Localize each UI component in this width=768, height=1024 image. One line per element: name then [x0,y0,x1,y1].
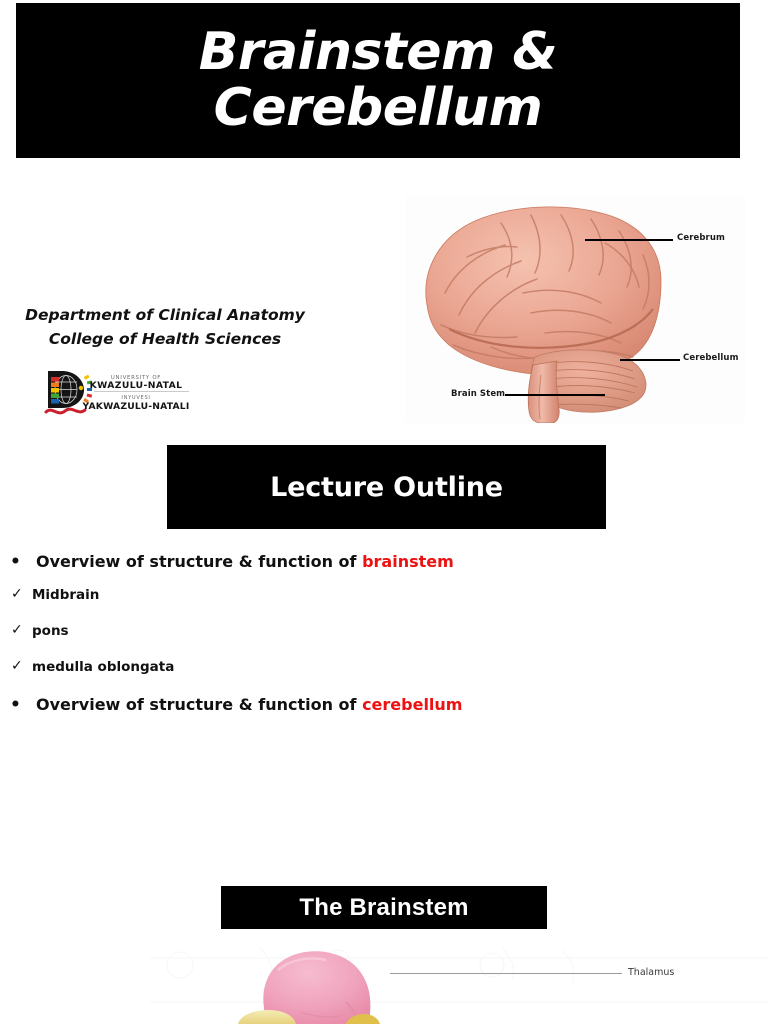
outline-item-brainstem-overview: • Overview of structure & function of br… [0,552,768,571]
brain-stem-leader-line [505,394,605,396]
department-block: Department of Clinical Anatomy College o… [0,303,330,351]
cerebellum-leader-line [620,359,680,361]
outline-item-text: medulla oblongata [32,659,174,675]
checkmark-icon: ✓ [11,587,32,601]
slide-title-line-1: Brainstem & [199,26,557,79]
bullet-dot-icon: • [10,554,36,571]
outline-item-medulla-oblongata: ✓ medulla oblongata [0,659,768,675]
cerebrum-label: Cerebrum [677,233,725,243]
department-line-1: Department of Clinical Anatomy [0,303,330,327]
lecture-outline-title: Lecture Outline [270,472,503,503]
checkmark-icon: ✓ [11,659,32,673]
outline-item-text: Midbrain [32,587,99,603]
slide-title-line-2: Cerebellum [214,82,543,135]
brain-anatomy-figure: Cerebrum Cerebellum Brain Stem [405,197,745,423]
cerebellum-label: Cerebellum [683,353,739,363]
outline-item-pons: ✓ pons [0,623,768,639]
brain-stem-label: Brain Stem [451,389,505,399]
ukzn-logo: UNIVERSITY OF KWAZULU-NATAL INYUVESI YAK… [40,367,192,417]
outline-item-cerebellum-overview: • Overview of structure & function of ce… [0,695,768,714]
thalamus-leader-line [390,973,622,974]
thalamus-figure: Thalamus [150,940,768,1024]
outline-item-accent: cerebellum [362,695,462,714]
thalamus-label: Thalamus [628,967,674,978]
slide-title-banner: Brainstem & Cerebellum [16,3,740,158]
logo-yakwazulu-natali: YAKWAZULU-NATALI [82,401,190,412]
outline-item-text: Overview of structure & function of brai… [36,552,454,571]
lecture-outline-banner: Lecture Outline [167,445,606,529]
outline-item-text: Overview of structure & function of cere… [36,695,462,714]
thalamus-illustration [150,940,768,1024]
the-brainstem-title: The Brainstem [299,894,468,922]
outline-item-accent: brainstem [362,552,454,571]
department-line-2: College of Health Sciences [0,327,330,351]
lecture-outline-list: • Overview of structure & function of br… [0,552,768,730]
outline-item-text: pons [32,623,69,639]
outline-item-midbrain: ✓ Midbrain [0,587,768,603]
checkmark-icon: ✓ [11,623,32,637]
outline-item-text-main: Overview of structure & function of [36,695,362,714]
outline-item-text-main: Overview of structure & function of [36,552,362,571]
bullet-dot-icon: • [10,697,36,714]
logo-kwazulu-natal: KWAZULU-NATAL [90,380,183,391]
ukzn-logo-graphic: UNIVERSITY OF KWAZULU-NATAL INYUVESI YAK… [40,367,192,417]
the-brainstem-banner: The Brainstem [221,886,547,929]
cerebrum-leader-line [585,239,673,241]
